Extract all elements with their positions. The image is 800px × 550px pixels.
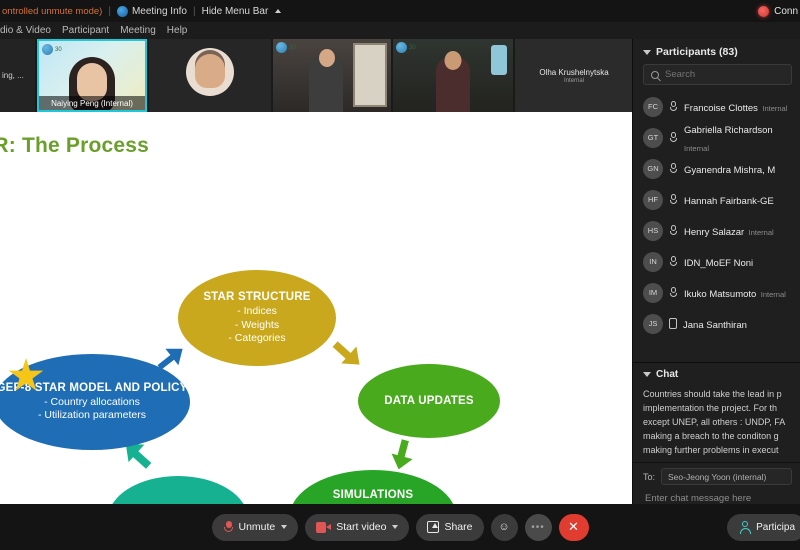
shared-content-slide[interactable]: AR: The Process STAR STRUCTURE - Indices… [0,112,632,504]
participant-info: Francoise Clottes Internal [684,98,787,116]
reactions-button[interactable]: ☺ [491,514,518,541]
person-head-shape [319,49,335,67]
video-tile-badge: 30 [42,44,62,55]
camera-off-icon [316,522,331,533]
chat-message-line: Countries should take the lead in p [643,388,800,402]
video-thumbnail-strip: ing, ... 30 Naiying Peng (Internal) [0,39,632,112]
video-tile-partial-label: ing, ... [2,71,24,80]
video-tile-participant-3[interactable]: 30 [273,39,391,112]
chevron-down-icon[interactable] [281,525,287,529]
microphone-icon[interactable] [669,163,678,174]
video-tile-name: Naiying Peng (Internal) [39,96,145,110]
chat-recipient-row: To: Seo-Jeong Yoon (internal) [633,462,800,489]
unmute-label: Unmute [239,521,276,533]
node-item: - Weights [235,319,279,332]
meeting-info-label: Meeting Info [132,6,187,17]
participant-info: IDN_MoEF Noni [684,253,753,271]
leave-meeting-button[interactable]: ✕ [559,514,589,541]
node-title: STAR STRUCTURE [203,290,310,305]
participant-name: Ikuko Matsumoto [684,289,756,300]
menu-bar: dio & Video Participant Meeting Help [0,22,800,39]
video-tile-badge-label: 30 [289,45,296,51]
participants-icon [738,521,751,534]
participant-subtitle: Internal [761,290,786,299]
video-tile-partial[interactable]: ing, ... [0,39,35,112]
list-item[interactable]: GT Gabriella Richardson Internal [633,122,800,153]
chat-message-line: implementation the project. For th [643,402,800,416]
menu-item-participant[interactable]: Participant [62,25,109,36]
connection-label: Conn [774,6,798,17]
participant-info: Gyanendra Mishra, M [684,160,775,178]
slide-title: AR: The Process [0,134,149,158]
list-item[interactable]: HS Henry Salazar Internal [633,215,800,246]
node-item: - Indices [237,305,277,318]
participants-toggle-button[interactable]: Participa [727,514,800,541]
video-tile-placeholder: Olha Krushelnytska Internal [515,39,632,112]
participant-name: Francoise Clottes [684,103,758,114]
start-video-label: Start video [336,521,386,533]
participants-list[interactable]: FC Francoise Clottes Internal GT Gabriel… [633,91,800,362]
chevron-down-icon[interactable] [643,50,651,55]
start-video-button[interactable]: Start video [305,514,409,541]
webex-logo-icon [117,6,128,17]
meeting-info-button[interactable]: Meeting Info [117,6,187,17]
chat-message-input[interactable]: Enter chat message here [633,489,800,504]
video-tile-name: Olha Krushelnytska [539,68,608,77]
participant-name: Jana Santhiran [683,320,747,331]
video-tile-badge-label: 30 [55,47,62,53]
share-button[interactable]: Share [416,514,483,541]
participants-panel-header[interactable]: Participants (83) [633,39,800,64]
chevron-down-icon[interactable] [643,372,651,377]
participant-info: Gabriella Richardson Internal [684,120,794,156]
person-head-shape [445,51,462,70]
avatar: HF [643,190,663,210]
participant-name: IDN_MoEF Noni [684,258,753,269]
webex-meeting-window: ontrolled unmute mode) | Meeting Info | … [0,0,800,550]
avatar: HS [643,221,663,241]
chevron-up-icon [275,9,281,13]
arrow-star-to-data [327,333,369,374]
video-tile-naiying-peng[interactable]: 30 Naiying Peng (Internal) [37,39,147,112]
list-item[interactable]: IM Ikuko Matsumoto Internal [633,277,800,308]
participant-subtitle: Internal [684,144,709,153]
video-tile-participant-2[interactable] [149,39,271,112]
participant-info: Jana Santhiran [683,315,747,333]
right-side-panel: Participants (83) FC Francoise Clottes I… [632,39,800,504]
participant-name: Gyanendra Mishra, M [684,165,775,176]
topbar-separator-1: | [108,6,111,17]
participant-info: Hannah Fairbank-GE [684,191,774,209]
search-box[interactable] [643,64,792,85]
list-item[interactable]: IN IDN_MoEF Noni [633,246,800,277]
participant-name: Hannah Fairbank-GE [684,196,774,207]
microphone-icon[interactable] [669,194,678,205]
microphone-icon[interactable] [669,101,678,112]
search-input[interactable] [665,69,784,80]
unmute-mode-notice: ontrolled unmute mode) [2,6,102,17]
share-label: Share [444,521,472,533]
participants-toggle-label: Participa [756,522,795,533]
globe-icon [276,42,287,53]
phone-icon[interactable] [669,318,677,329]
meeting-controls-toolbar: Unmute Start video Share ☺ ••• ✕ Partici… [0,504,800,550]
avatar [186,48,234,96]
list-item[interactable]: HF Hannah Fairbank-GE [633,184,800,215]
menu-item-meeting[interactable]: Meeting [120,25,156,36]
node-item: - Categories [228,332,285,345]
node-simulations: SIMULATIONS - Floors and ceilings - Indi… [290,470,456,504]
avatar: GT [643,128,663,148]
participants-search-wrapper [633,64,800,91]
participant-info: Henry Salazar Internal [684,222,774,240]
unmute-button[interactable]: Unmute [212,514,299,541]
node-title: DATA UPDATES [384,394,474,409]
chevron-down-icon[interactable] [392,525,398,529]
participant-name: Gabriella Richardson [684,125,773,136]
hide-menu-bar-label: Hide Menu Bar [202,6,269,17]
search-icon [651,71,659,79]
more-options-button[interactable]: ••• [525,514,552,541]
video-feed-image [149,39,271,112]
participants-panel-title: Participants (83) [656,46,738,58]
globe-icon [396,42,407,53]
node-title: SIMULATIONS [333,488,414,503]
list-item[interactable]: GN Gyanendra Mishra, M [633,153,800,184]
microphone-icon[interactable] [669,256,678,267]
video-tile-participant-4[interactable]: 30 [393,39,513,112]
recording-indicator-icon[interactable] [758,6,769,17]
participant-info: Ikuko Matsumoto Internal [684,284,786,302]
node-flexibility-thresholds: FLEXIBILITY THRESHOLDS [108,476,248,504]
microphone-icon[interactable] [669,225,678,236]
participant-subtitle: Internal [762,104,787,113]
avatar: JS [643,314,663,334]
node-item: - Country allocations [44,396,140,409]
participant-name: Henry Salazar [684,227,744,238]
share-screen-icon [427,521,439,533]
avatar: IM [643,283,663,303]
list-item[interactable]: JS Jana Santhiran [633,308,800,339]
chat-to-label: To: [643,472,655,482]
globe-icon [42,44,53,55]
menu-item-audio-video[interactable]: dio & Video [0,25,51,36]
video-tile-badge: 30 [276,42,296,53]
chat-recipient-select[interactable]: Seo-Jeong Yoon (internal) [661,468,792,485]
video-tile-olha-krushelnytska[interactable]: Olha Krushelnytska Internal [515,39,632,112]
microphone-icon[interactable] [669,287,678,298]
video-tile-badge-label: 30 [409,45,416,51]
node-data-updates: DATA UPDATES [358,364,500,438]
chat-panel-title: Chat [656,369,678,380]
chat-panel: Chat Countries should take the lead in p… [633,363,800,504]
microphone-icon[interactable] [669,132,678,143]
chat-message-list[interactable]: Countries should take the lead in p impl… [633,385,800,462]
participant-subtitle: Internal [749,228,774,237]
video-tile-badge: 30 [396,42,416,53]
background-wall-shape [353,43,387,107]
avatar: FC [643,97,663,117]
lamp-shape [491,45,507,75]
arrow-data-to-simulations [387,437,420,473]
toolbar-button-group: Unmute Start video Share ☺ ••• ✕ [212,514,589,541]
hide-menu-bar-button[interactable]: Hide Menu Bar [202,6,282,17]
node-item: - Utilization parameters [38,409,146,422]
topbar-separator-2: | [193,6,196,17]
top-bar: ontrolled unmute mode) | Meeting Info | … [0,0,800,22]
top-bar-right: Conn [758,0,800,22]
chat-message-line: making further problems in execut [643,444,800,458]
chat-panel-header[interactable]: Chat [633,363,800,385]
list-item[interactable]: FC Francoise Clottes Internal [633,91,800,122]
chat-message-line: except UNEP, all others : UNDP, FA [643,416,800,430]
microphone-muted-icon [223,521,234,534]
avatar: GN [643,159,663,179]
video-tile-subtitle: Internal [564,78,584,84]
node-star-structure: STAR STRUCTURE - Indices - Weights - Cat… [178,270,336,366]
menu-item-help[interactable]: Help [167,25,188,36]
chat-message-line: making a breach to the conditon g [643,430,800,444]
avatar: IN [643,252,663,272]
top-bar-left: ontrolled unmute mode) | Meeting Info | … [0,6,281,17]
